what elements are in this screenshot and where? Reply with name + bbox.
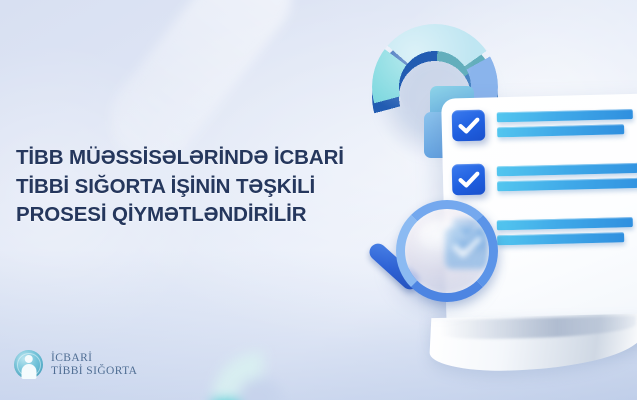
person-circle-icon [14, 350, 43, 379]
headline-line-1: TİBB MÜƏSSİSƏLƏRİNDƏ İCBARİ [16, 144, 346, 173]
checkbox-checked-icon [452, 164, 486, 196]
checklist-text-bars [497, 163, 637, 192]
logo-person-head [24, 355, 33, 364]
checklist-text-bars [497, 109, 637, 138]
page-title: TİBB MÜƏSSİSƏLƏRİNDƏ İCBARİ TİBBİ SIĞORT… [16, 144, 346, 230]
checkbox-checked-icon [452, 110, 486, 142]
brand-logo-text: İCBARİ TİBBİ SIĞORTA [51, 352, 137, 377]
logo-person-body [21, 364, 36, 379]
news-banner: TİBB MÜƏSSİSƏLƏRİNDƏ İCBARİ TİBBİ SIĞORT… [0, 0, 637, 400]
brand-logo[interactable]: İCBARİ TİBBİ SIĞORTA [14, 350, 137, 379]
text-bar [497, 124, 624, 137]
checklist-row [452, 106, 637, 142]
magnifier-ring [396, 200, 498, 302]
headline-line-3: PROSESİ QİYMƏTLƏNDİRİLİR [16, 201, 346, 230]
checklist-row [452, 160, 637, 196]
text-bar [497, 163, 637, 177]
checklist-text-bars [497, 217, 637, 246]
brand-logo-line-2: TİBBİ SIĞORTA [51, 365, 137, 378]
text-bar [497, 217, 634, 230]
headline-line-2: TİBBİ SIĞORTA İŞİNİN TƏŞKİLİ [16, 173, 346, 202]
text-bar [497, 109, 634, 122]
magnifying-glass-icon [396, 200, 498, 302]
brand-logo-line-1: İCBARİ [51, 352, 137, 365]
text-bar [497, 178, 637, 192]
text-bar [497, 232, 624, 245]
